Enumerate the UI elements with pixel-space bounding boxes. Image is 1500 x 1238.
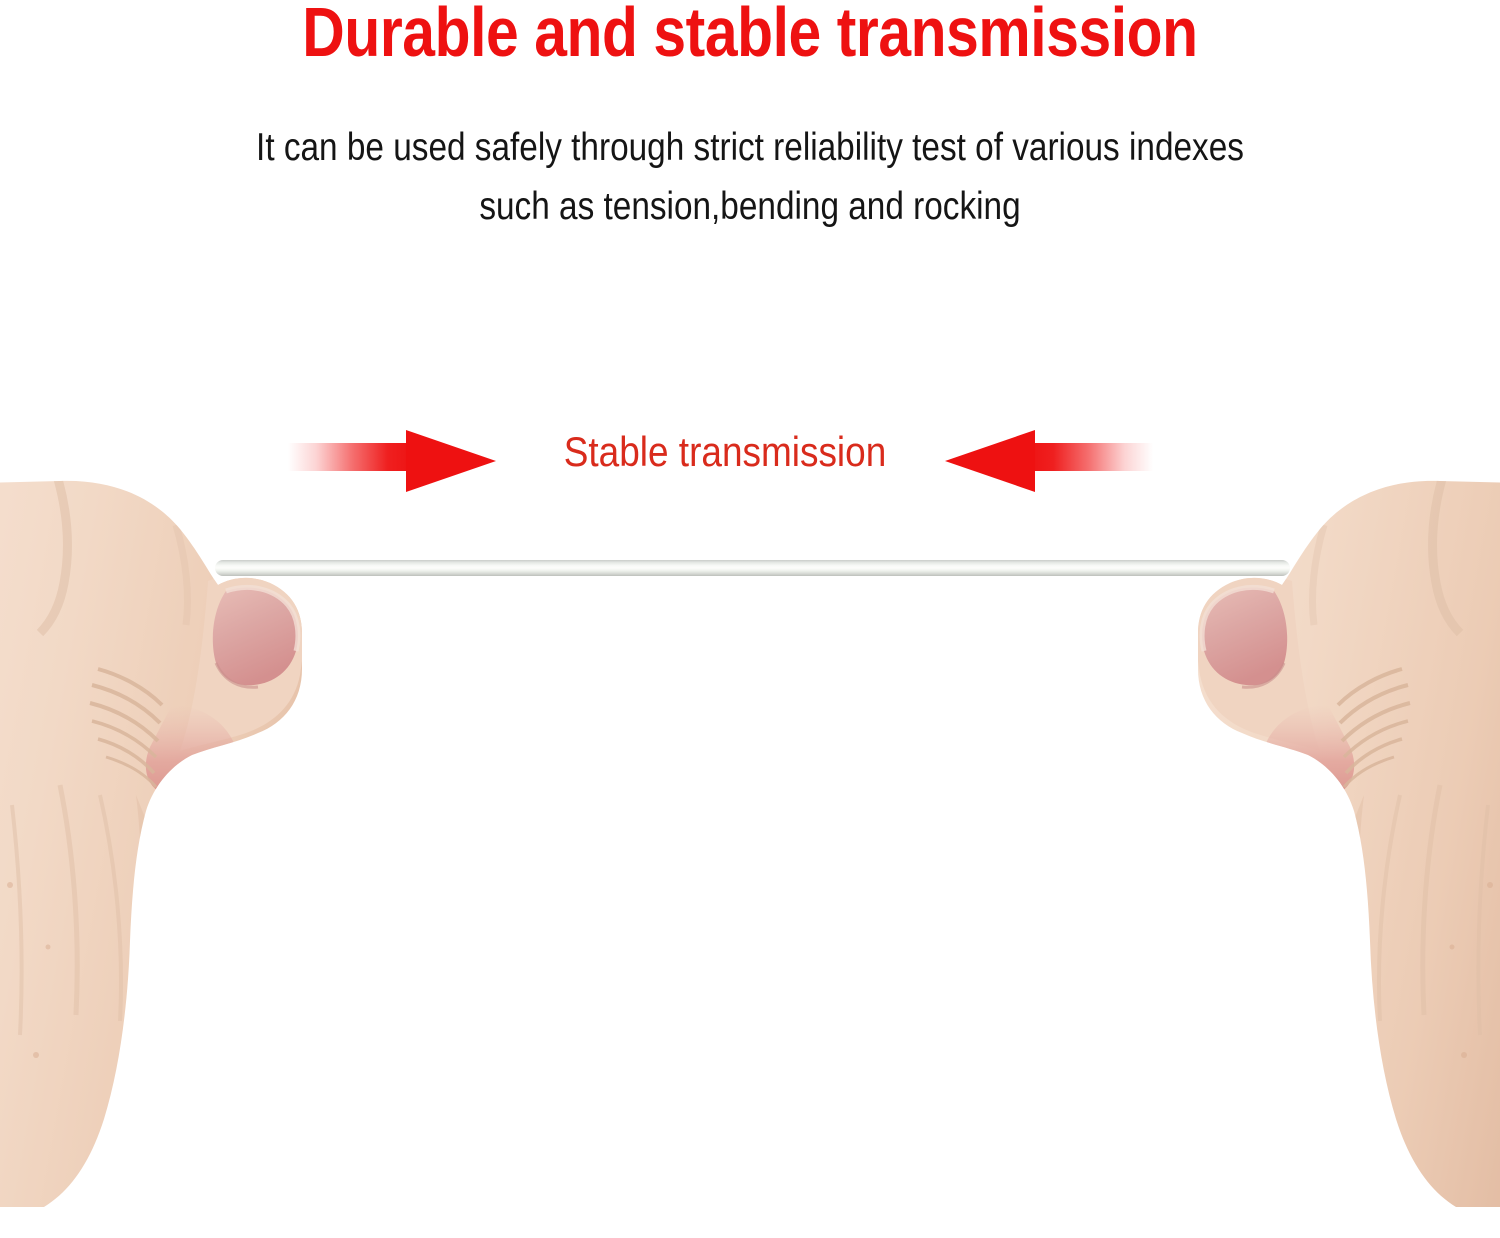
promo-image: Durable and stable transmission It can b…: [0, 0, 1500, 1238]
page-title: Durable and stable transmission: [120, 0, 1380, 70]
stable-transmission-label: Stable transmission: [527, 428, 923, 476]
cable-product: [215, 560, 1290, 576]
subtitle-line-2: such as tension,bending and rocking: [109, 177, 1392, 236]
subtitle-block: It can be used safely through strict rel…: [109, 118, 1392, 237]
left-hand-image: [0, 455, 360, 1215]
right-hand-image: [1140, 455, 1500, 1215]
arrow-left-icon: [938, 418, 1153, 504]
subtitle-line-1: It can be used safely through strict rel…: [109, 118, 1392, 177]
